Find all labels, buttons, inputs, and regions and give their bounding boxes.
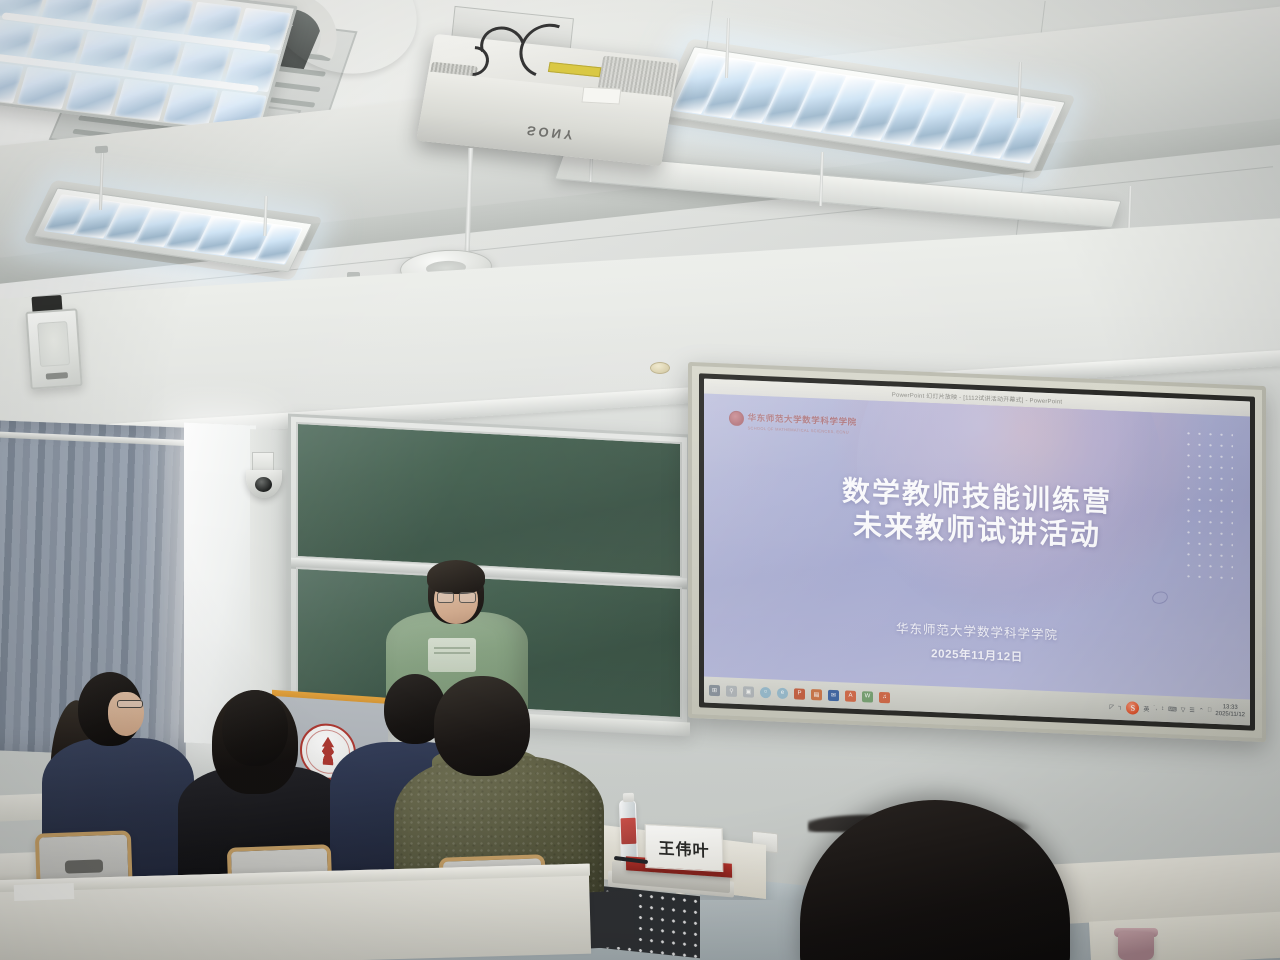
name-placard: 王伟叶: [645, 824, 724, 872]
taskbar-left-icons: ⊞ ⚲ ▣ ○ e P ▤ ✉ A W ♫: [709, 684, 890, 703]
start-icon[interactable]: ⊞: [709, 684, 720, 695]
slide-smudge-mark: [1151, 589, 1170, 605]
sogou-ime-icon[interactable]: S: [1126, 701, 1139, 715]
placard-name-text: 王伟叶: [658, 835, 709, 862]
screen-bezel: PowerPoint 幻灯片放映 - [1112试讲活动开幕式] - Power…: [699, 373, 1255, 730]
pdf-icon[interactable]: A: [845, 690, 856, 701]
slide-logo-wordmark: 华东师范大学数学科学学院: [748, 412, 857, 427]
display-icon[interactable]: ⎕: [1208, 707, 1212, 714]
paper-sheet[interactable]: [14, 883, 75, 901]
clock-tray-icon[interactable]: ◸: [1110, 703, 1115, 710]
chevron-up-icon[interactable]: ⌃: [1199, 707, 1204, 714]
rod-ceiling-plate: [95, 146, 108, 154]
ime-menu-icon[interactable]: ☰: [1189, 706, 1194, 713]
clock-date: 2025/11/12: [1215, 711, 1245, 720]
edge-icon[interactable]: e: [777, 687, 788, 698]
taskbar-system-tray: ◸ ┐ S 英 ˙, ↕ ⌨ ▽ ☰ ⌃ ⎕ 13:33 2025/11/12: [1110, 699, 1246, 720]
slide-header-logo: 华东师范大学数学科学学院 SCHOOL OF MATHEMATICAL SCIE…: [729, 406, 857, 434]
media-icon[interactable]: ♫: [879, 691, 890, 702]
bottle-cap: [623, 793, 634, 802]
blackboard-upper-panel: [296, 422, 682, 578]
wall-speaker: [25, 308, 82, 389]
explorer-icon[interactable]: ▤: [811, 689, 822, 700]
task-view-icon[interactable]: ▣: [743, 686, 754, 697]
screen-surface: PowerPoint 幻灯片放映 - [1112试讲活动开幕式] - Power…: [704, 379, 1250, 726]
ime-toolbox-icon[interactable]: ▽: [1181, 706, 1186, 713]
wps-icon[interactable]: W: [862, 691, 873, 702]
glasses-icon: [117, 700, 143, 708]
mail-icon[interactable]: ✉: [828, 689, 839, 700]
pink-cup[interactable]: [1118, 932, 1154, 960]
classroom-photo-scene: SONY PowerPoint 幻灯片放映 - [1112试讲活: [0, 0, 1280, 960]
presentation-slide: 华东师范大学数学科学学院 SCHOOL OF MATHEMATICAL SCIE…: [704, 394, 1250, 705]
audience-face: [108, 692, 144, 736]
ime-voice-icon[interactable]: ↕: [1161, 706, 1164, 712]
glasses-icon: [437, 592, 476, 601]
search-icon[interactable]: ⚲: [726, 685, 737, 696]
ime-punct-icon[interactable]: ˙,: [1153, 705, 1157, 711]
powerpoint-icon[interactable]: P: [794, 688, 805, 699]
ime-keyboard-icon[interactable]: ⌨: [1168, 706, 1177, 713]
slide-title: 数学教师技能训练营 未来教师试讲活动: [704, 468, 1250, 558]
sweatshirt-graphic: [428, 638, 476, 672]
network-tray-icon[interactable]: ┐: [1118, 704, 1122, 710]
audience-head: [434, 676, 530, 776]
projection-screen[interactable]: PowerPoint 幻灯片放映 - [1112试讲活动开幕式] - Power…: [688, 362, 1266, 742]
smoke-detector: [650, 362, 670, 374]
slide-logo-subtext: SCHOOL OF MATHEMATICAL SCIENCES, ECNU: [748, 425, 857, 435]
projector-sticker: [581, 87, 621, 105]
ime-chinese-icon[interactable]: 英: [1143, 703, 1149, 712]
audience-head: [222, 690, 288, 766]
presenter-hair: [427, 560, 485, 594]
cortana-icon[interactable]: ○: [760, 686, 771, 697]
ecnu-seal-icon: [729, 410, 744, 426]
taskbar-clock[interactable]: 13:33 2025/11/12: [1215, 703, 1245, 719]
bottle-label: [621, 818, 637, 845]
